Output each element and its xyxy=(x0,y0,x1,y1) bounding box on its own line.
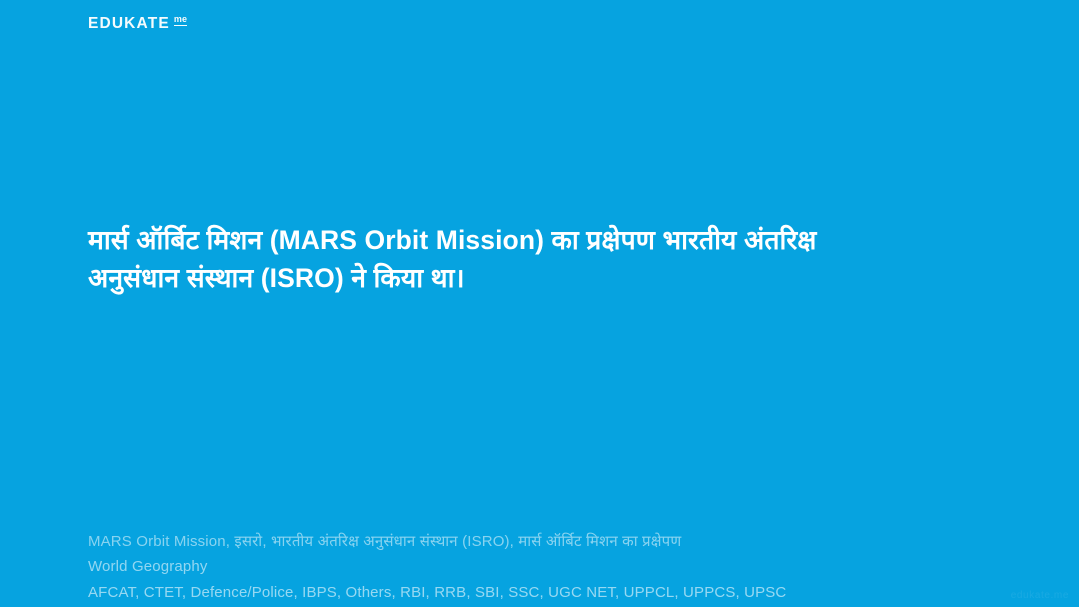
meta-tags: MARS Orbit Mission, इसरो, भारतीय अंतरिक्… xyxy=(88,529,1028,555)
brand-superscript: me xyxy=(174,15,187,26)
page-title-line-1: मार्स ऑर्बिट मिशन (MARS Orbit Mission) क… xyxy=(88,221,988,259)
meta-exams: AFCAT, CTET, Defence/Police, IBPS, Other… xyxy=(88,580,1028,606)
page-title-line-2: अनुसंधान संस्थान (ISRO) ने किया था। xyxy=(88,259,988,297)
slide-canvas: EDUKATE me मार्स ऑर्बिट मिशन (MARS Orbit… xyxy=(0,0,1079,607)
watermark: edukate.me xyxy=(1011,590,1069,601)
page-title: मार्स ऑर्बिट मिशन (MARS Orbit Mission) क… xyxy=(88,221,988,297)
brand-name: EDUKATE xyxy=(88,16,170,32)
meta-category: World Geography xyxy=(88,554,1028,580)
footer-meta: MARS Orbit Mission, इसरो, भारतीय अंतरिक्… xyxy=(88,529,1028,606)
brand-logo[interactable]: EDUKATE me xyxy=(88,16,187,32)
